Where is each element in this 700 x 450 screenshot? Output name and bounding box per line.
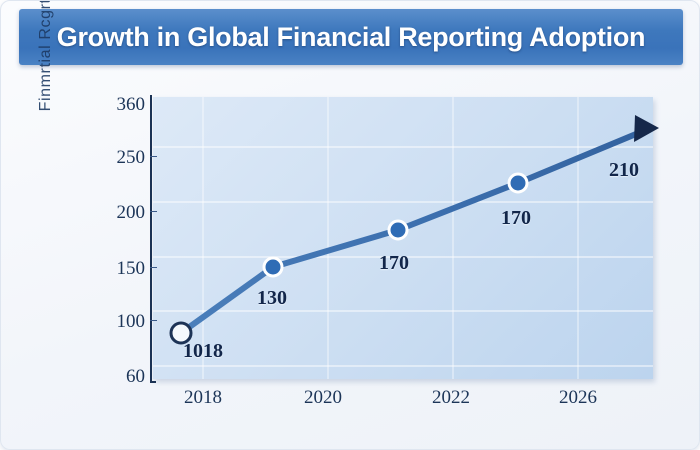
y-axis-title: Finmrtial Rcgrtong Inoctx xyxy=(33,0,59,145)
data-point-label: 170 xyxy=(379,252,409,275)
arrowhead-icon xyxy=(634,115,659,142)
data-point-label: 210 xyxy=(609,159,639,182)
y-tick-label: 60 xyxy=(83,366,145,388)
trend-line xyxy=(181,129,648,333)
y-tick-mark xyxy=(150,267,157,268)
x-tick-label: 2026 xyxy=(533,387,623,409)
data-series xyxy=(153,97,653,379)
data-point-marker[interactable] xyxy=(264,258,282,276)
data-point-label: 170 xyxy=(501,207,531,230)
y-tick-label: 150 xyxy=(83,258,145,280)
data-point-label: 1018 xyxy=(183,340,223,363)
data-point-marker[interactable] xyxy=(389,221,407,239)
y-tick-mark xyxy=(150,320,157,321)
y-axis-line xyxy=(150,95,152,383)
y-tick-label: 250 xyxy=(83,147,145,169)
page-title: Growth in Global Financial Reporting Ado… xyxy=(57,22,645,53)
y-tick-label: 200 xyxy=(83,202,145,224)
chart-card: Growth in Global Financial Reporting Ado… xyxy=(0,0,700,450)
x-tick-label: 2020 xyxy=(278,387,368,409)
y-tick-mark xyxy=(150,156,157,157)
data-point-label: 130 xyxy=(257,287,287,310)
y-tick-label: 360 xyxy=(83,94,145,116)
x-tick-label: 2018 xyxy=(158,387,248,409)
plot-area: 1018 130 170 170 210 xyxy=(153,97,653,379)
x-tick-label: 2022 xyxy=(406,387,496,409)
y-tick-mark xyxy=(150,211,157,212)
x-axis-line xyxy=(150,381,156,383)
y-tick-label: 100 xyxy=(83,311,145,333)
data-point-marker[interactable] xyxy=(509,174,527,192)
y-tick-labels: 360 250 200 150 100 60 xyxy=(83,1,145,450)
